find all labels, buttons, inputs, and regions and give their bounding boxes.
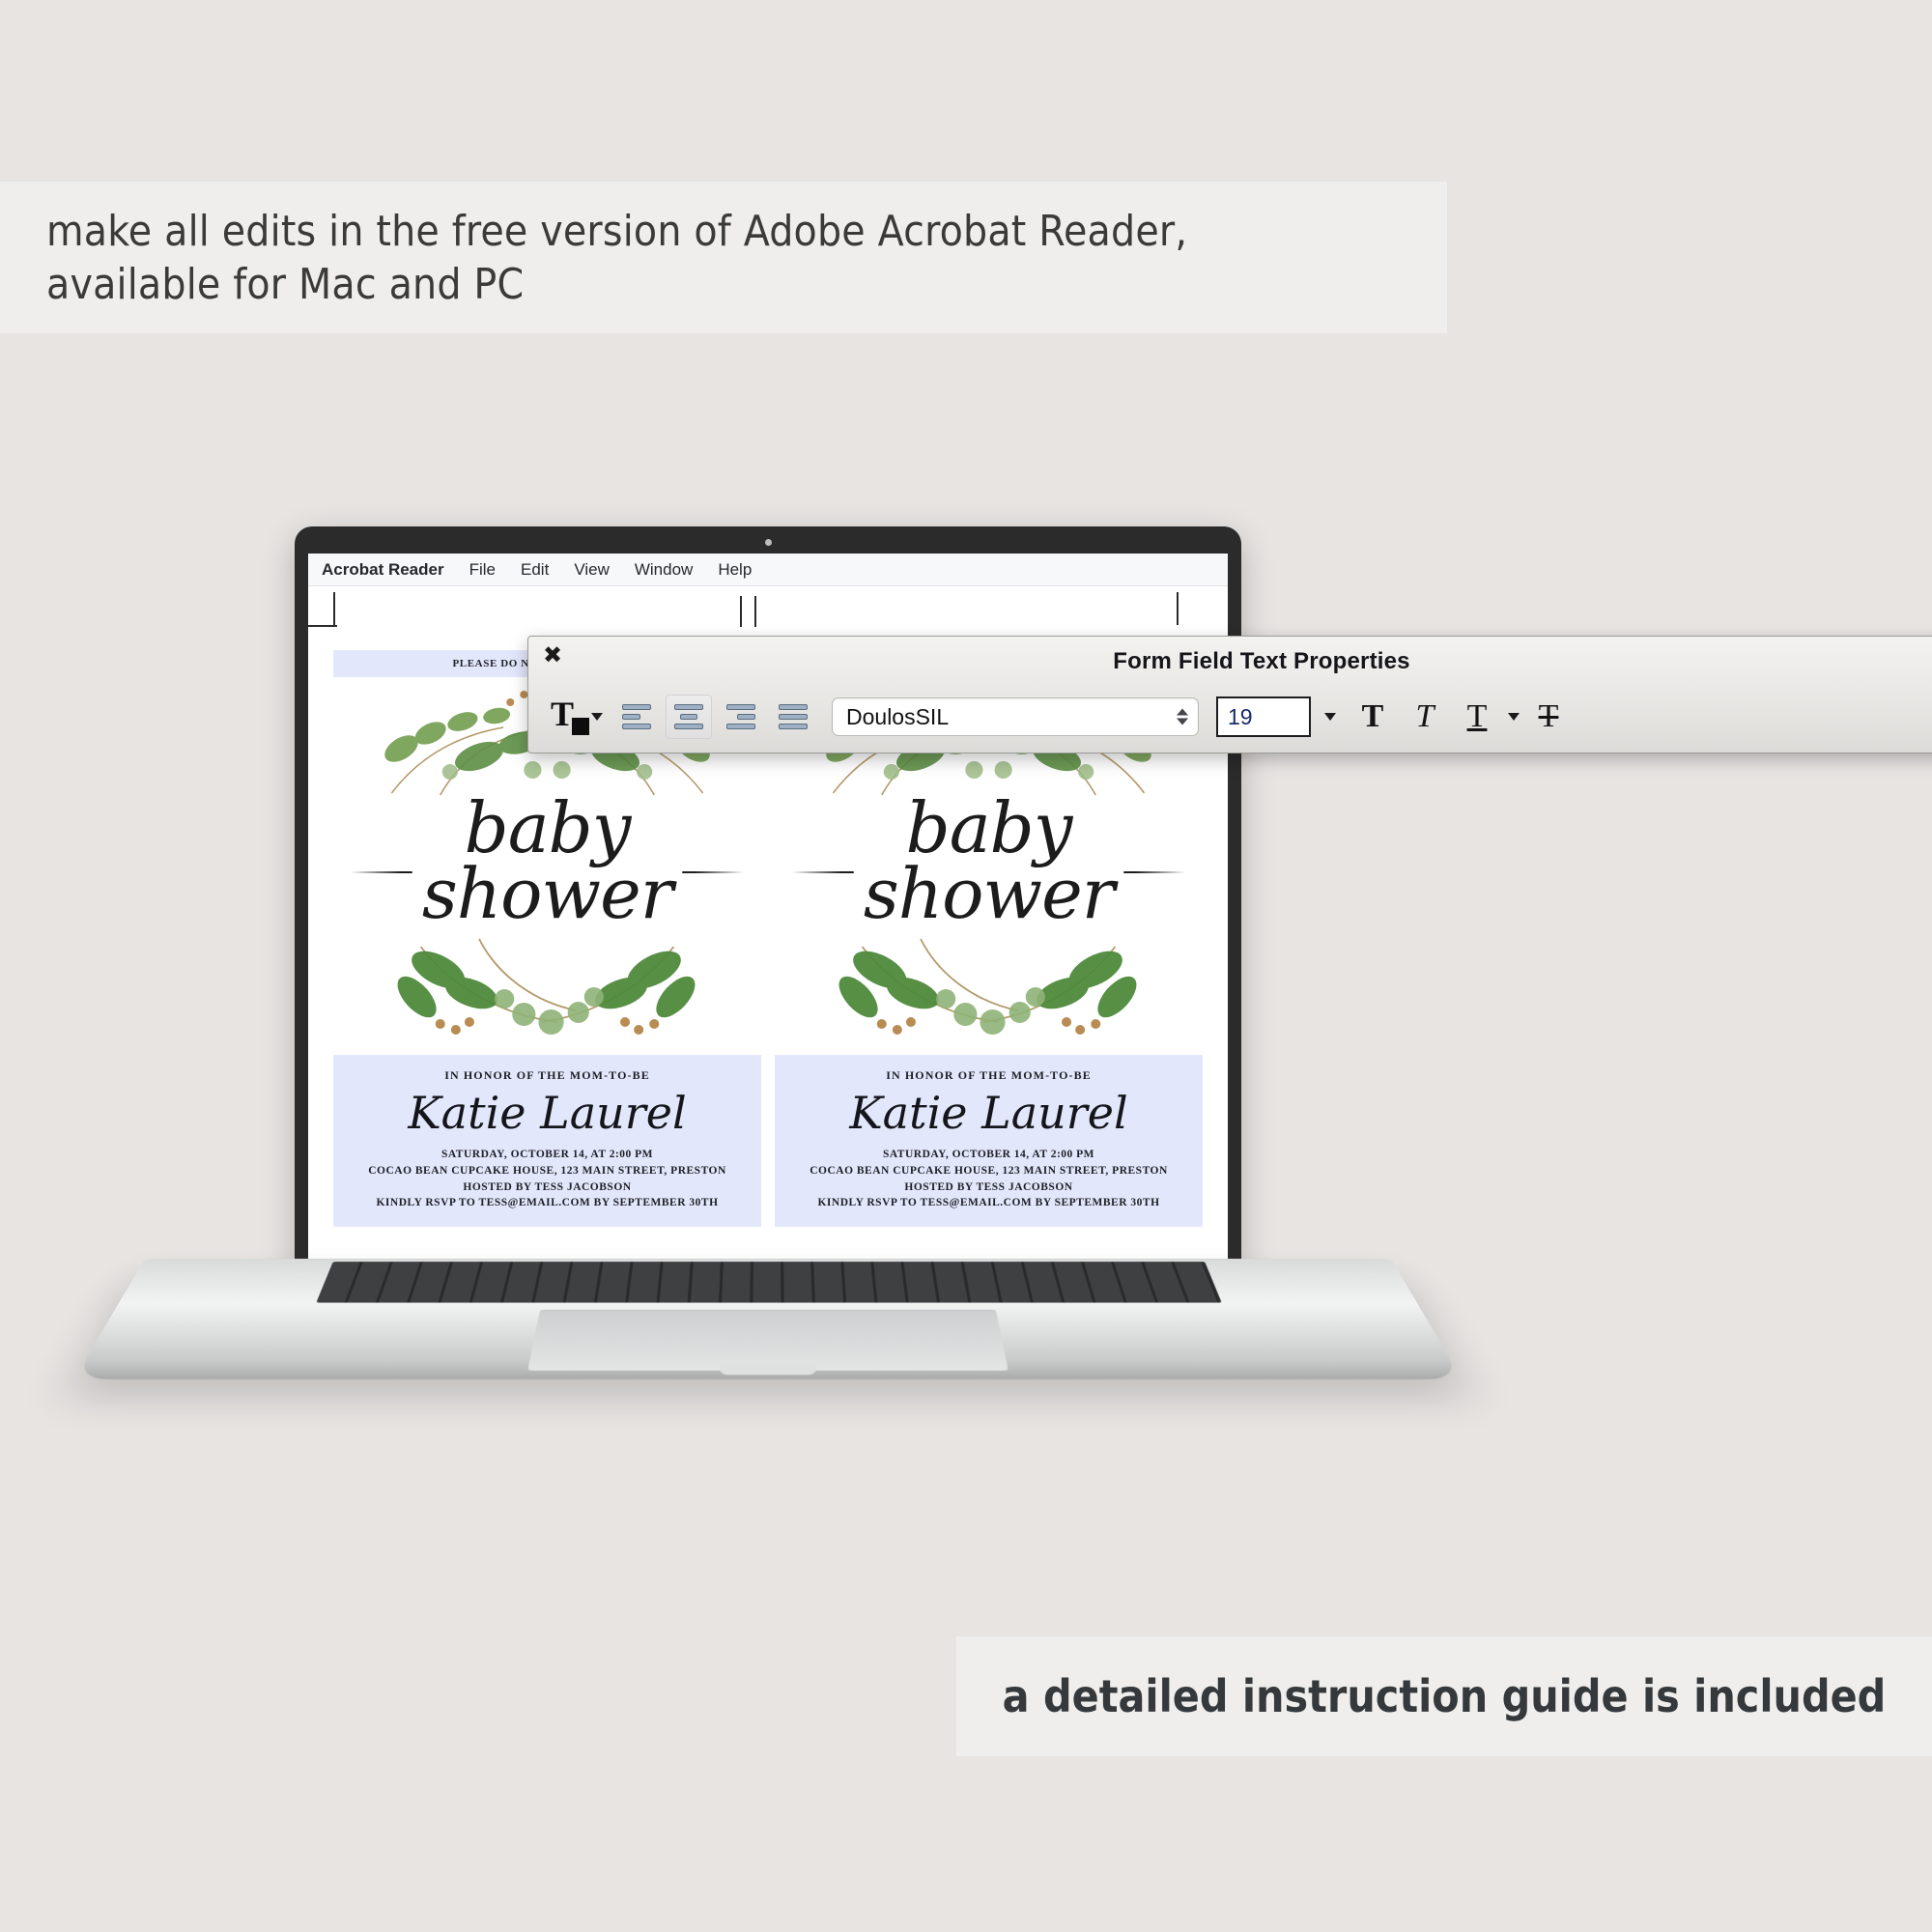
card-headline-text: baby shower: [422, 787, 672, 934]
align-justify-icon: [779, 704, 808, 729]
card-detail-line[interactable]: SATURDAY, OCTOBER 14, AT 2:00 PM: [782, 1147, 1195, 1163]
swash-right-icon: [682, 871, 744, 873]
underline-button[interactable]: T: [1454, 695, 1500, 739]
bold-icon: T: [1362, 700, 1384, 733]
card-honor-text: IN HONOR OF THE MOM-TO-BE: [782, 1068, 1195, 1083]
card-name-field[interactable]: Katie Laurel: [341, 1089, 753, 1138]
crop-mark: [1177, 592, 1179, 625]
card-detail-line[interactable]: HOSTED BY TESS JACOBSON: [341, 1179, 753, 1196]
menu-item-help[interactable]: Help: [718, 560, 752, 580]
top-caption-line-1: make all edits in the free version of Ad…: [46, 205, 1187, 258]
swash-right-icon: [1123, 871, 1185, 873]
card-detail-line[interactable]: KINDLY RSVP TO TESS@EMAIL.COM BY SEPTEMB…: [782, 1195, 1195, 1211]
menu-item-window[interactable]: Window: [635, 560, 693, 580]
crop-mark: [740, 596, 742, 627]
text-tool-letter: T: [551, 696, 574, 731]
webcam-icon: [765, 539, 772, 546]
page-root: make all edits in the free version of Ad…: [0, 0, 1932, 1932]
card-detail-line[interactable]: SATURDAY, OCTOBER 14, AT 2:00 PM: [341, 1147, 753, 1163]
font-size-chevron-down-icon[interactable]: [1324, 713, 1336, 721]
greenery-svg: [775, 929, 1203, 1055]
card-name-field[interactable]: Katie Laurel: [782, 1089, 1195, 1138]
trackpad: [527, 1310, 1009, 1371]
align-left-button[interactable]: [613, 695, 660, 739]
menu-item-file[interactable]: File: [469, 560, 496, 580]
font-family-value: DoulosSIL: [846, 704, 949, 730]
card-headline: baby shower: [775, 795, 1203, 927]
chevron-down-icon[interactable]: [591, 713, 603, 721]
form-field-text-properties-dialog[interactable]: ✖ Form Field Text Properties T: [527, 636, 1932, 753]
greenery-bottom-illustration: [333, 929, 761, 1055]
keyboard: [316, 1262, 1221, 1302]
font-size-value: 19: [1228, 704, 1253, 730]
acrobat-menubar[interactable]: Acrobat Reader File Edit View Window Hel…: [308, 554, 1228, 586]
laptop-base: [73, 1259, 1462, 1379]
card-headline: baby shower: [333, 795, 761, 927]
menu-item-acrobat-reader[interactable]: Acrobat Reader: [322, 560, 444, 580]
font-family-select[interactable]: DoulosSIL: [832, 697, 1199, 736]
dialog-title: Form Field Text Properties: [528, 648, 1932, 675]
menu-item-edit[interactable]: Edit: [521, 560, 549, 580]
greenery-bottom-illustration: [775, 929, 1203, 1055]
font-size-input[interactable]: 19: [1216, 696, 1311, 737]
swash-left-icon: [351, 871, 412, 873]
crop-mark: [754, 596, 756, 627]
swash-left-icon: [792, 871, 854, 873]
bold-button[interactable]: T: [1350, 695, 1396, 739]
text-tool-square-icon: [572, 718, 589, 735]
strikethrough-icon: T: [1539, 700, 1559, 733]
align-justify-button[interactable]: [770, 695, 816, 739]
card-detail-line[interactable]: HOSTED BY TESS JACOBSON: [782, 1179, 1195, 1196]
underline-icon: T: [1467, 700, 1488, 733]
crop-mark: [333, 592, 335, 625]
underline-chevron-down-icon[interactable]: [1508, 713, 1520, 721]
top-caption-text: make all edits in the free version of Ad…: [0, 205, 1187, 311]
card-headline-text: baby shower: [864, 787, 1114, 934]
card-details-block[interactable]: IN HONOR OF THE MOM-TO-BE Katie Laurel S…: [775, 1055, 1203, 1227]
crop-mark: [308, 625, 337, 627]
dialog-toolbar[interactable]: T DoulosSIL 19: [528, 685, 1932, 749]
menu-item-view[interactable]: View: [574, 560, 610, 580]
align-center-icon: [674, 704, 703, 729]
italic-button[interactable]: T: [1402, 695, 1448, 739]
stepper-icon[interactable]: [1177, 709, 1188, 725]
align-center-button[interactable]: [666, 695, 712, 739]
dialog-title-bar: ✖ Form Field Text Properties: [528, 637, 1932, 685]
align-right-button[interactable]: [718, 695, 764, 739]
align-right-icon: [726, 704, 755, 729]
bottom-caption-text: a detailed instruction guide is included: [1003, 1670, 1887, 1722]
card-honor-text: IN HONOR OF THE MOM-TO-BE: [341, 1068, 753, 1083]
card-details-block[interactable]: IN HONOR OF THE MOM-TO-BE Katie Laurel S…: [333, 1055, 761, 1227]
top-caption-line-2: available for Mac and PC: [46, 258, 1187, 311]
align-left-icon: [622, 704, 651, 729]
text-tool-button[interactable]: T: [546, 695, 608, 739]
card-detail-line[interactable]: COCAO BEAN CUPCAKE HOUSE, 123 MAIN STREE…: [341, 1163, 753, 1179]
italic-icon: T: [1416, 700, 1435, 733]
card-detail-line[interactable]: KINDLY RSVP TO TESS@EMAIL.COM BY SEPTEMB…: [341, 1195, 753, 1211]
lid-notch: [720, 1363, 816, 1375]
strikethrough-button[interactable]: T: [1525, 695, 1572, 739]
greenery-svg: [333, 929, 761, 1055]
text-field-icon: T: [551, 698, 589, 735]
bottom-caption-banner: a detailed instruction guide is included: [956, 1636, 1932, 1756]
top-caption-banner: make all edits in the free version of Ad…: [0, 182, 1447, 333]
card-detail-line[interactable]: COCAO BEAN CUPCAKE HOUSE, 123 MAIN STREE…: [782, 1163, 1195, 1179]
